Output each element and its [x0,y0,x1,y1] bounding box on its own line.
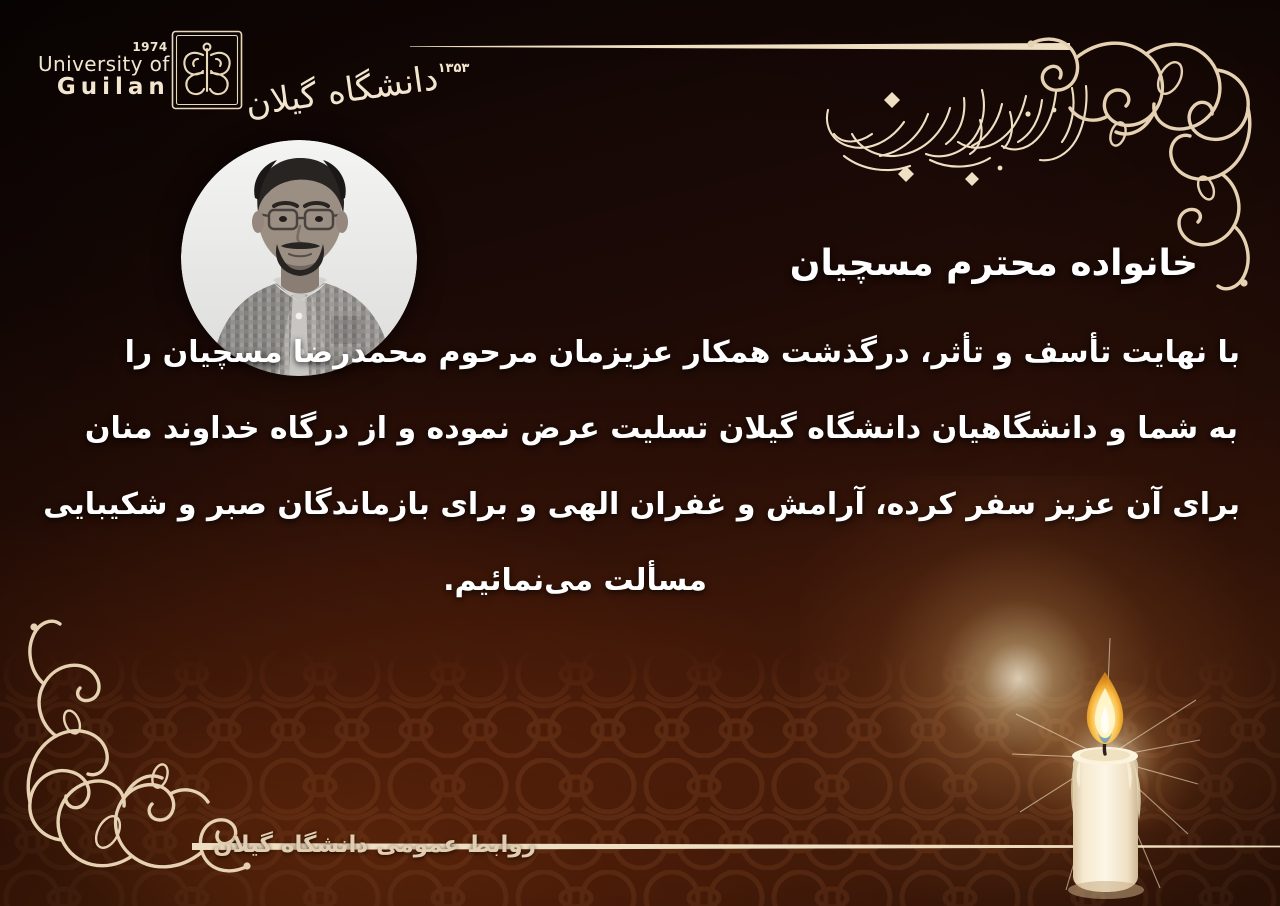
public-relations-credit: روابط عمومی دانشگاه گیلان [213,832,536,858]
message-line-2: به شما و دانشگاهیان دانشگاه گیلان تسلیت … [36,414,1244,444]
condolence-message: خانواده محترم مسچیان با نهایت تأسف و تأث… [36,246,1244,596]
quranic-calligraphy-icon [804,48,1104,198]
guilan-university-emblem-icon [170,29,244,111]
logo-year-persian: ۱۳۵۳ [438,61,470,76]
message-line-1: با نهایت تأسف و تأثر، درگذشت همکار عزیزم… [36,338,1244,368]
logo-name-persian: دانشگاه گیلان [243,61,440,122]
university-logo: 1974 University of Guilan ۱۳۵۳ دانشگاه گ… [28,28,479,112]
lit-candle-icon [1010,636,1200,906]
logo-line-2: Guilan [57,75,170,99]
logo-persian-block: ۱۳۵۳ دانشگاه گیلان [244,45,474,95]
addressee-heading: خانواده محترم مسچیان [36,246,1244,282]
message-line-4: مسألت می‌نمائیم. [36,566,1244,596]
logo-line-1: University of [38,54,170,75]
condolence-poster: 1974 University of Guilan ۱۳۵۳ دانشگاه گ… [0,0,1280,906]
message-line-3: برای آن عزیز سفر کرده، آرامش و غفران اله… [36,490,1244,520]
logo-english-text: 1974 University of Guilan [38,41,170,100]
